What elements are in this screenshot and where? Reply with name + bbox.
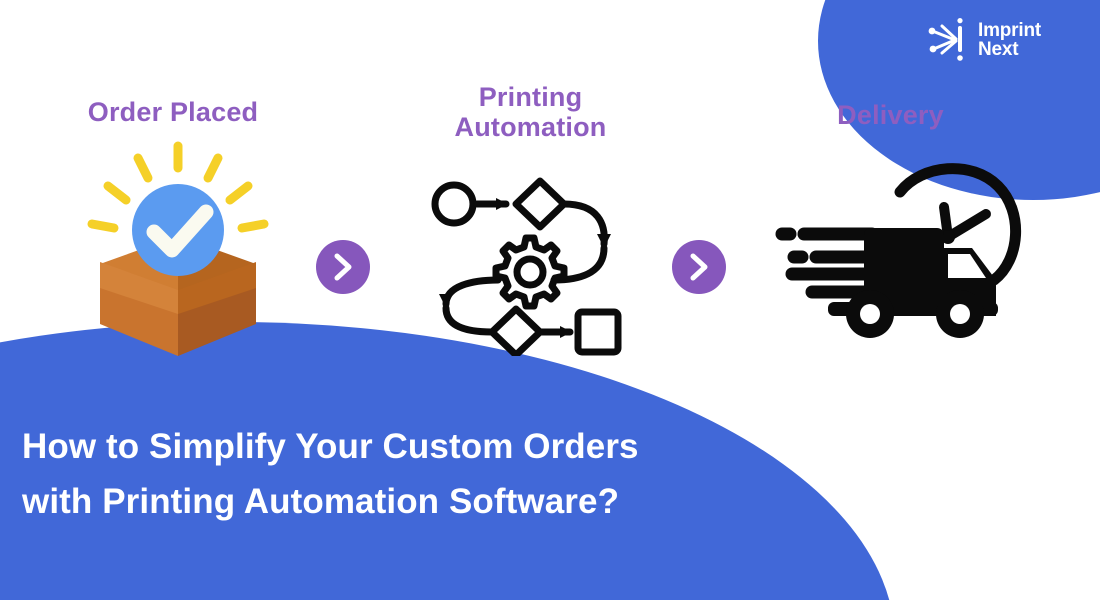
imprint-next-logo[interactable]: Imprint Next xyxy=(928,18,1041,62)
speed-lines xyxy=(782,234,872,292)
step-title-order-placed: Order Placed xyxy=(48,97,298,127)
gear-icon xyxy=(496,238,564,306)
flow-end-square xyxy=(578,312,618,352)
check-badge-circle xyxy=(132,184,224,276)
open-box-with-checkmark-illustration xyxy=(82,138,288,361)
connector-2-chevron-button[interactable] xyxy=(672,240,726,294)
logo-wordmark-line1: Imprint xyxy=(978,21,1041,40)
step-title-printing-automation: Printing Automation xyxy=(408,82,653,142)
flow-decision-diamond-bottom xyxy=(492,309,540,355)
page-title: How to Simplify Your Custom Orders with … xyxy=(22,419,682,529)
banner-canvas: Order Placed xyxy=(0,0,1100,600)
step-title-delivery: Delivery xyxy=(788,100,993,130)
chevron-right-icon xyxy=(332,252,354,282)
imprint-next-node-mark xyxy=(928,18,970,62)
logo-wordmark-line2: Next xyxy=(978,40,1041,59)
logo-wordmark: Imprint Next xyxy=(978,21,1041,59)
flow-start-circle xyxy=(435,185,473,223)
fast-delivery-truck-with-clock-illustration xyxy=(772,162,1034,345)
automation-flowchart-illustration xyxy=(428,176,624,361)
chevron-right-icon xyxy=(688,252,710,282)
flow-decision-diamond-top xyxy=(516,181,564,227)
connector-1-chevron-button[interactable] xyxy=(316,240,370,294)
